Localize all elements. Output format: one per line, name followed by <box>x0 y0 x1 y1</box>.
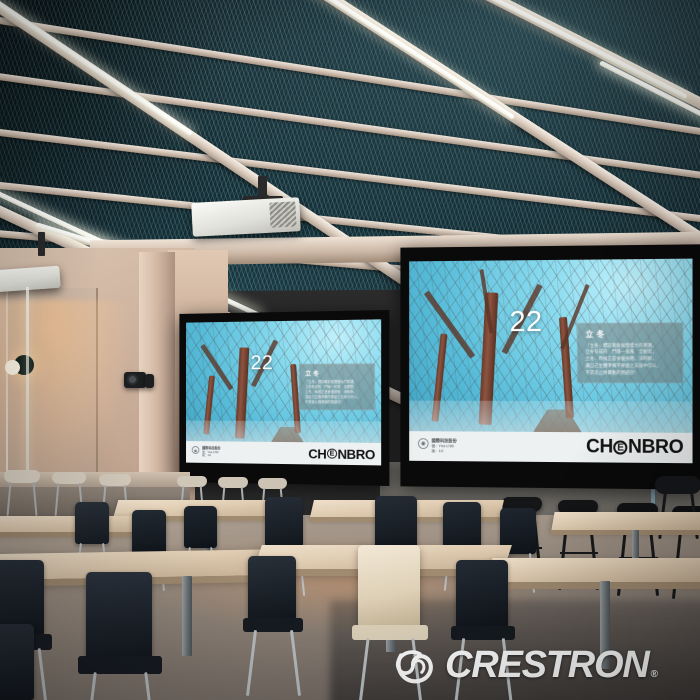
slide-day-number: 22 <box>250 353 273 376</box>
chenbro-logo-ch: CH <box>586 436 613 458</box>
slide-body-line: 讓自己生體準備不要處之夫敲中可以， <box>585 363 675 370</box>
camera-lens-icon <box>127 374 138 385</box>
table-leg <box>182 576 192 656</box>
projector-mount-pole <box>258 176 267 198</box>
main-projection-screen[interactable]: 22 立冬 「立冬」標誌著氣候慢慢大的寒潮， 立冬有成的 門兩一會風 全銀思， … <box>400 244 700 489</box>
sconce-glow <box>5 360 20 375</box>
chenbro-logo: CH E NBRO <box>308 446 375 462</box>
slide-body-line: 立冬、時候正是食優身體、深時節， <box>585 356 675 363</box>
crestron-wordmark: CRESTRON ® <box>445 646 657 684</box>
classroom-photo: 22 立冬 「立冬」標誌著氣候慢慢大的寒潮， 立冬有成的 門兩一會風 全銀思， … <box>0 0 700 700</box>
crestron-watermark: CRESTRON ® <box>388 638 688 692</box>
slide-footer-text: 國際科技股份 號：Yhd-1780 版：1/2 <box>432 438 457 454</box>
chenbro-logo-ch: CH <box>308 446 326 461</box>
slide-solar-term-title: 立冬 <box>305 368 369 377</box>
slide-main: 22 立冬 「立冬」標誌著氣候慢慢大的寒潮， 立冬有成的 門兩一會風 全銀思， … <box>409 259 692 464</box>
slide-footer-mark-icon: ◉ <box>192 446 200 454</box>
slide-body-line: 不求造止條費動的預避計！ <box>585 370 675 377</box>
slide-secondary: 22 立冬 「立冬」標誌著氣候慢慢大的寒潮， 立冬有成的 門兩一會風 全銀思， … <box>186 319 381 465</box>
chenbro-logo-e: E <box>327 448 337 458</box>
slide-footer: ◉ 國際科技股份 號：Yhd-1780 版：1/2 CH E NBRO <box>409 431 692 463</box>
camera-wall-bracket <box>145 374 154 388</box>
table[interactable] <box>487 558 700 582</box>
table[interactable] <box>0 516 143 532</box>
slide-footer-meta: 版：1/2 <box>202 454 220 458</box>
projector-vent-grille <box>269 201 296 227</box>
slide-body-line: 不求造止條費動的預避計！ <box>305 400 369 405</box>
slide-textbox: 立冬 「立冬」標誌著氣候慢慢大的寒潮， 立冬有成的 門兩一會風 全銀思， 立冬、… <box>299 363 375 410</box>
wall-projector-pole <box>38 232 45 256</box>
slide-solar-term-title: 立冬 <box>585 328 675 339</box>
slide-footer-left: ◉ 國際科技股份 號：Yhd-1780 版：1/2 <box>192 446 221 458</box>
chenbro-logo: CH E NBRO <box>586 436 683 459</box>
crestron-brand-text: CRESTRON <box>445 646 649 684</box>
slide-body-line: 讓自己生體準備不要處之夫敲中可以， <box>305 395 369 400</box>
chenbro-logo-e: E <box>613 440 627 454</box>
chenbro-logo-tail: NBRO <box>337 446 375 462</box>
chenbro-logo-tail: NBRO <box>628 437 683 460</box>
slide-footer-meta: 版：1/2 <box>432 449 457 454</box>
slide-footer: ◉ 國際科技股份 號：Yhd-1780 版：1/2 CH E NBRO <box>186 441 381 465</box>
table[interactable] <box>551 512 700 530</box>
slide-footer-left: ◉ 國際科技股份 號：Yhd-1780 版：1/2 <box>418 438 457 454</box>
secondary-projection-screen[interactable]: 22 立冬 「立冬」標誌著氣候慢慢大的寒潮， 立冬有成的 門兩一會風 全銀思， … <box>179 310 389 486</box>
wall-projector <box>0 266 61 293</box>
crestron-swirl-icon <box>388 642 438 688</box>
registered-mark: ® <box>651 670 657 680</box>
slide-day-number: 22 <box>509 306 542 339</box>
slide-textbox: 立冬 「立冬」標誌著氣候慢慢大的寒潮， 立冬有成的 門兩一會風 全銀思， 立冬、… <box>577 322 683 383</box>
slide-footer-text: 國際科技股份 號：Yhd-1780 版：1/2 <box>202 446 220 458</box>
ptz-camera <box>124 372 146 388</box>
ceiling-projector <box>191 197 301 237</box>
slide-footer-mark-icon: ◉ <box>418 438 429 449</box>
